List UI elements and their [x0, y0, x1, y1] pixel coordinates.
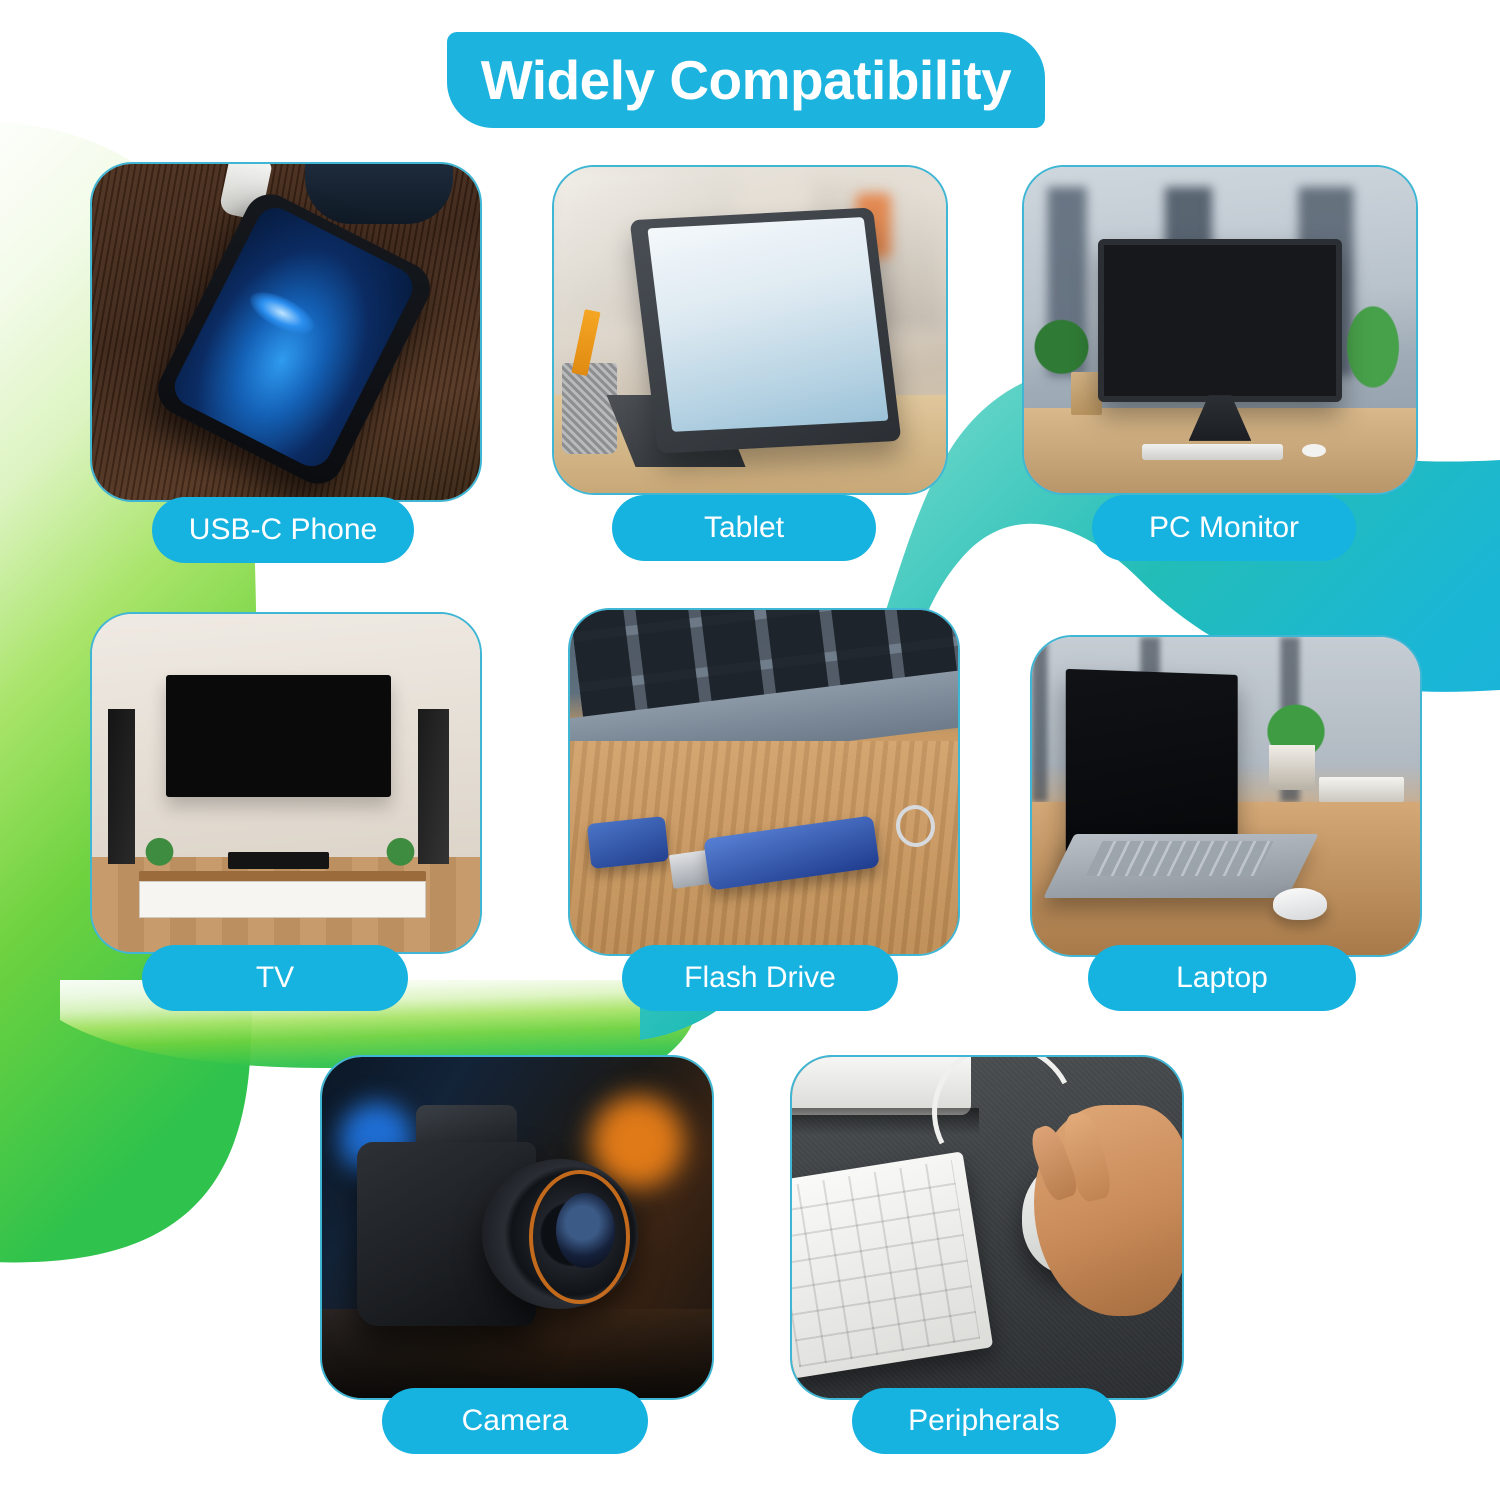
label-pill-usb-c-phone[interactable]: USB-C Phone: [152, 497, 414, 563]
compat-card-flash-drive[interactable]: [568, 608, 960, 956]
compat-card-tablet[interactable]: [552, 165, 948, 495]
label-peripherals: Peripherals: [908, 1406, 1060, 1436]
photo-flash-drive: [570, 610, 958, 954]
label-camera: Camera: [462, 1406, 569, 1436]
label-pill-flash-drive[interactable]: Flash Drive: [622, 945, 898, 1011]
compat-card-peripherals[interactable]: [790, 1055, 1184, 1400]
label-tv: TV: [256, 963, 294, 993]
photo-peripherals: [792, 1057, 1182, 1398]
photo-usb-c-phone: [92, 164, 480, 500]
compat-card-laptop[interactable]: [1030, 635, 1422, 957]
compat-card-camera[interactable]: [320, 1055, 714, 1400]
infographic-root: Widely Compatibility USB-C Phone: [0, 0, 1500, 1500]
compat-card-tv[interactable]: [90, 612, 482, 954]
page-title: Widely Compatibility: [481, 53, 1011, 108]
label-laptop: Laptop: [1176, 963, 1268, 993]
label-tablet: Tablet: [704, 513, 784, 543]
label-pill-laptop[interactable]: Laptop: [1088, 945, 1356, 1011]
label-pill-peripherals[interactable]: Peripherals: [852, 1388, 1116, 1454]
photo-pc-monitor: [1024, 167, 1416, 493]
photo-tablet: [554, 167, 946, 493]
label-pc-monitor: PC Monitor: [1149, 513, 1299, 543]
compat-card-usb-c-phone[interactable]: [90, 162, 482, 502]
photo-camera: [322, 1057, 712, 1398]
photo-laptop: [1032, 637, 1420, 955]
label-usb-c-phone: USB-C Phone: [189, 515, 377, 545]
label-pill-tv[interactable]: TV: [142, 945, 408, 1011]
label-flash-drive: Flash Drive: [684, 963, 836, 993]
page-title-banner: Widely Compatibility: [447, 32, 1045, 128]
label-pill-pc-monitor[interactable]: PC Monitor: [1092, 495, 1356, 561]
label-pill-camera[interactable]: Camera: [382, 1388, 648, 1454]
compat-card-pc-monitor[interactable]: [1022, 165, 1418, 495]
label-pill-tablet[interactable]: Tablet: [612, 495, 876, 561]
photo-tv: [92, 614, 480, 952]
